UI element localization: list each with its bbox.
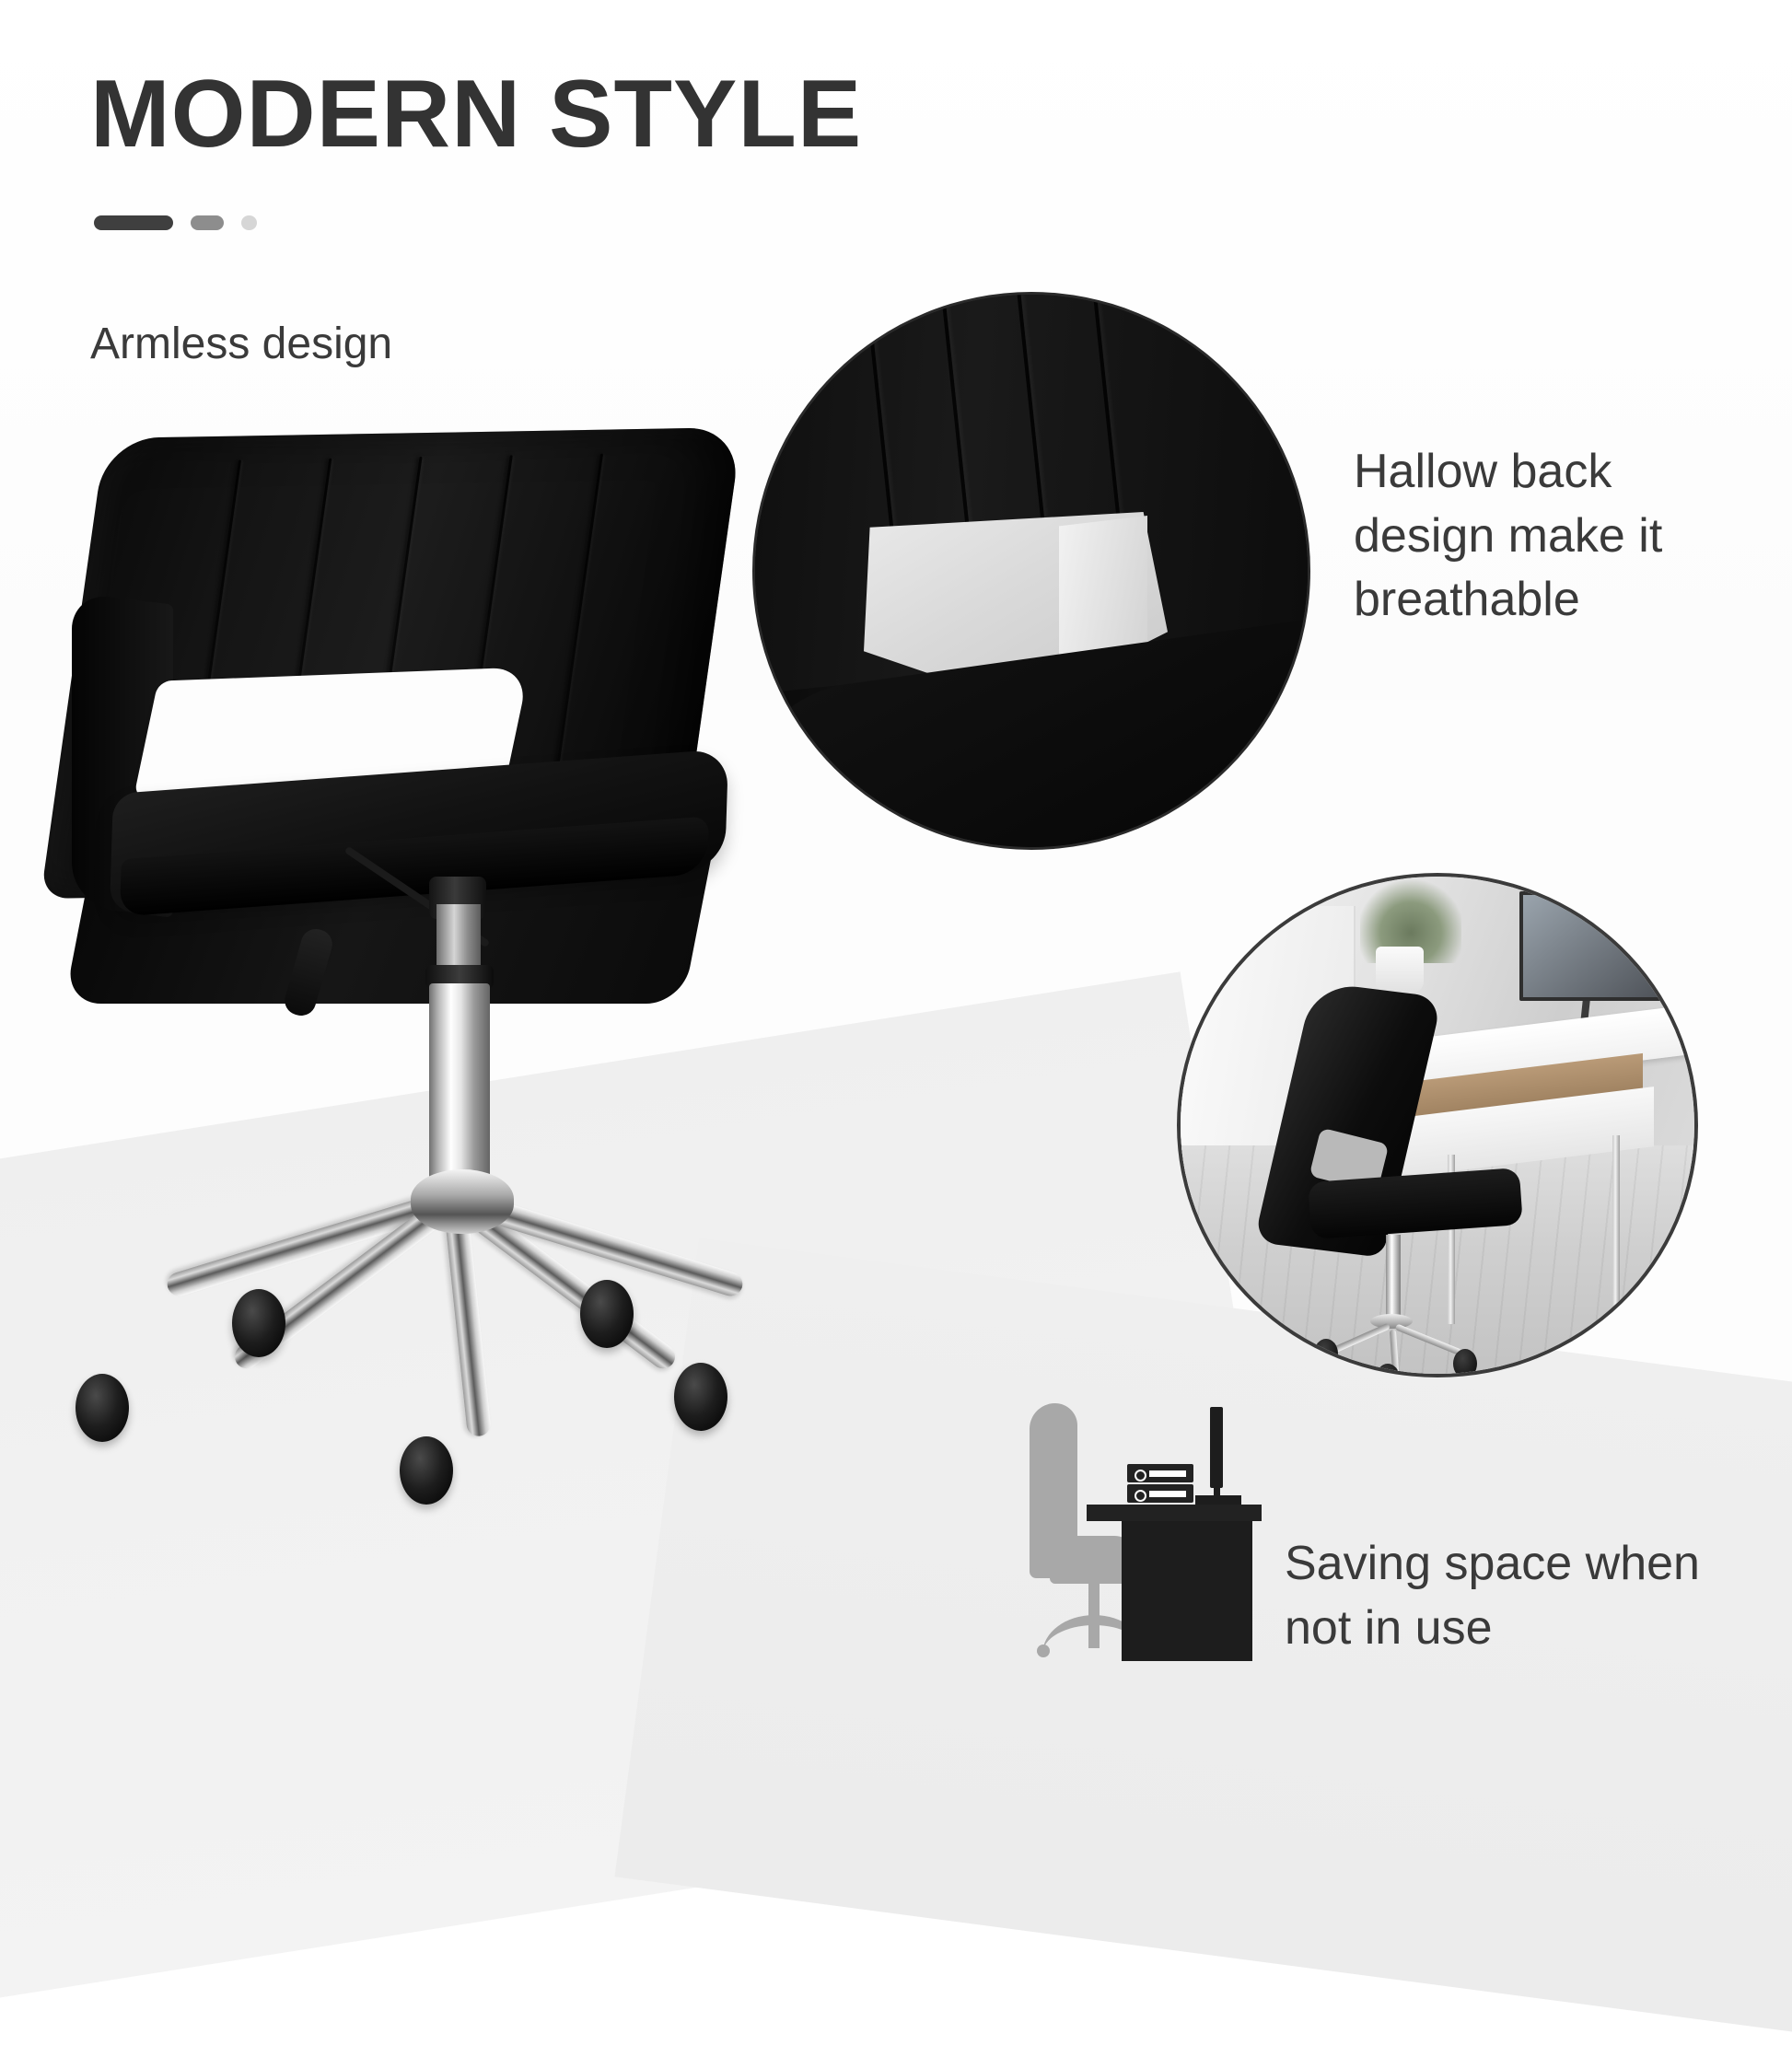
feature-caption-saving-space: Saving space when not in use [1285, 1532, 1745, 1660]
caster-wheel-3 [674, 1363, 727, 1431]
caster-wheel-1 [76, 1374, 129, 1442]
divider-dashes [94, 215, 862, 230]
scene-plant-pot [1376, 947, 1424, 993]
inset-lifestyle-desk-scene [1181, 877, 1694, 1374]
caster-wheel-5 [400, 1436, 453, 1505]
caster-wheel-4 [580, 1280, 634, 1348]
pictogram-desk-with-tucked-chair [1030, 1368, 1297, 1663]
feature-caption-hallow-back: Hallow back design make it breathable [1354, 440, 1740, 633]
caster-wheel-2 [232, 1289, 285, 1357]
dash-long-dark-icon [94, 215, 173, 230]
pictogram-caster-left-icon [1037, 1644, 1050, 1657]
dash-mid-gray-icon [191, 215, 224, 230]
pictogram-monitor-base-icon [1195, 1495, 1241, 1505]
pictogram-monitor-screen-icon [1210, 1407, 1223, 1488]
page-title: MODERN STYLE [90, 64, 862, 165]
base-center-hub [411, 1169, 514, 1234]
pictogram-desk-top-icon [1087, 1505, 1262, 1521]
scene-chair-cylinder [1386, 1235, 1401, 1323]
scene-desk-leg-right [1612, 1135, 1620, 1324]
feature-caption-armless: Armless design [90, 315, 392, 373]
pictogram-desk-body-icon [1122, 1521, 1252, 1661]
pictogram-binder-top-icon [1127, 1464, 1193, 1482]
pictogram-binder-bottom-icon [1127, 1484, 1193, 1503]
inset-hallow-back-closeup [755, 295, 1308, 847]
header: MODERN STYLE [90, 64, 862, 230]
scene-caster-2 [1453, 1349, 1477, 1374]
dash-dot-light-icon [241, 215, 257, 230]
scene-monitor [1519, 891, 1673, 1001]
